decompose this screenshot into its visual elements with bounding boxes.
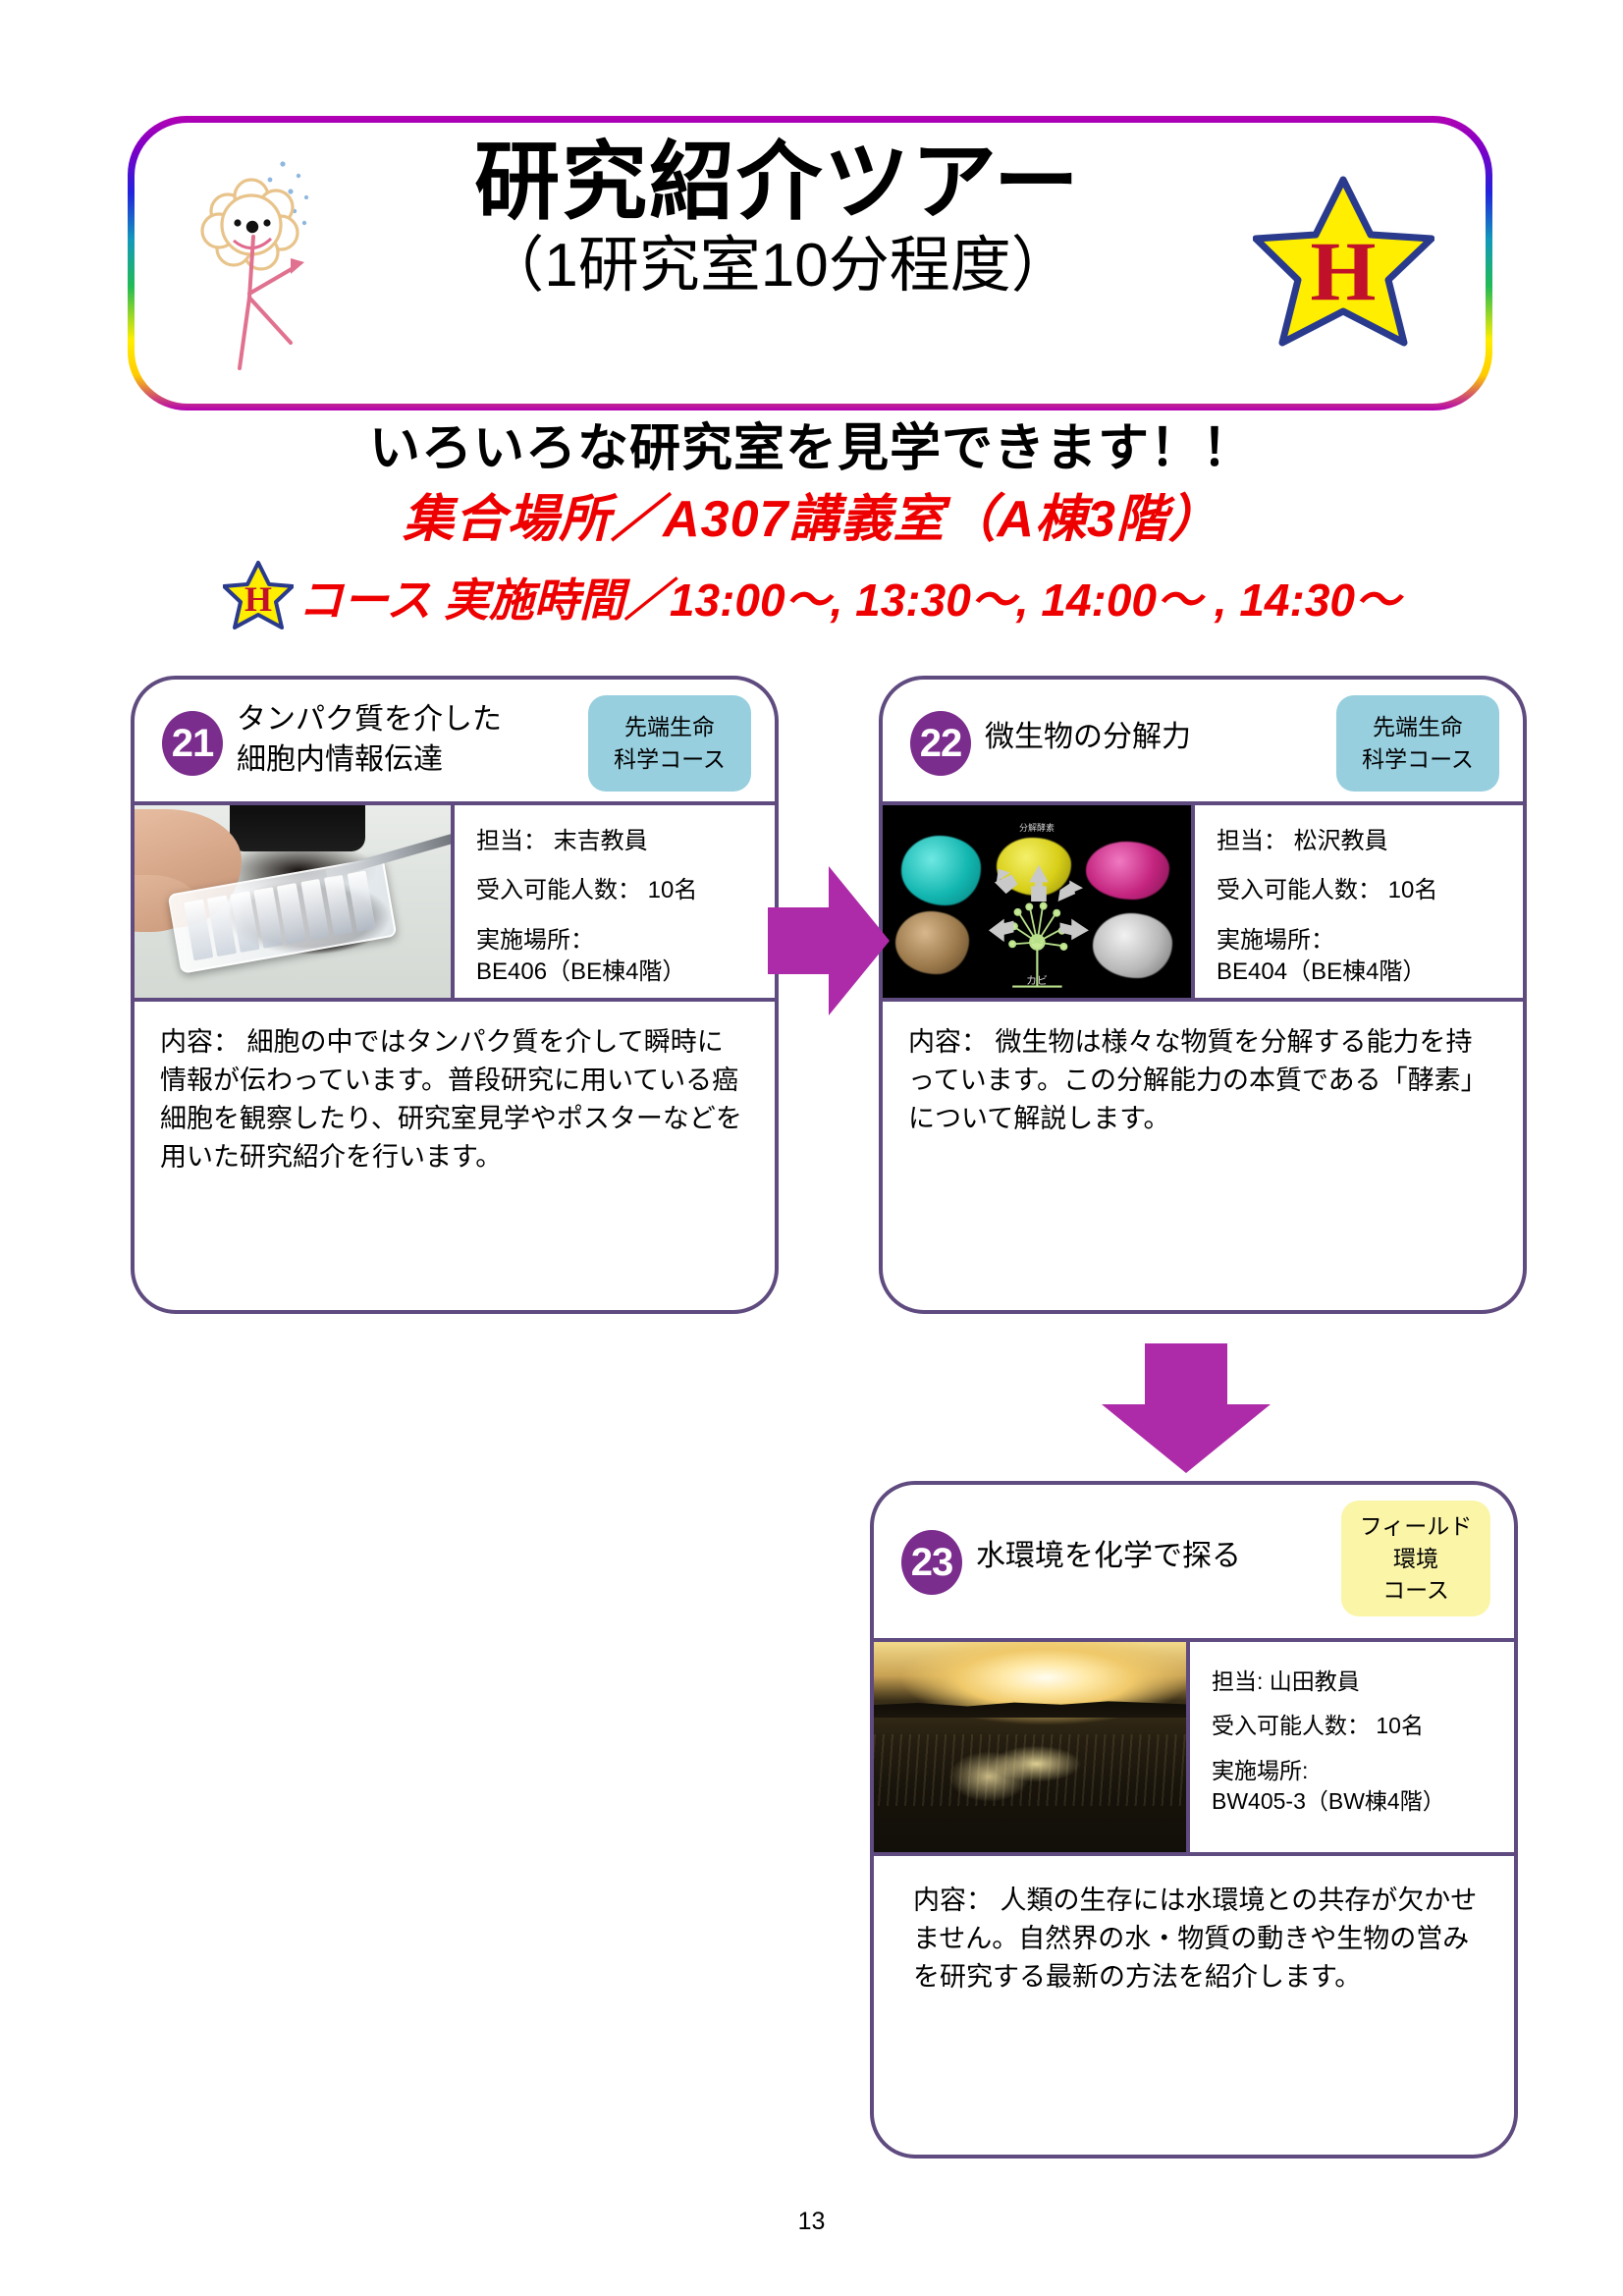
location-row: 実施場所: BW405-3（BW棟4階） [1212,1756,1504,1817]
header-banner-inner: 研究紹介ツアー （1研究室10分程度） H [135,123,1486,404]
teacher-row: 担当： 末吉教員 [476,827,765,856]
card-header: 23 水環境を化学で探る フィールド 環境 コース [874,1485,1514,1642]
card-title: タンパク質を介した 細胞内情報伝達 [237,699,561,781]
lab-card-22[interactable]: 22 微生物の分解力 先端生命 科学コース 分解酵素 [879,676,1527,1314]
teacher-row: 担当： 松沢教員 [1217,827,1513,856]
diagram-label-bottom: カビ [883,972,1191,988]
card-info: 担当: 山田教員 受入可能人数： 10名 実施場所: BW405-3（BW棟4階… [1190,1642,1514,1852]
card-description: 内容： 細胞の中ではタンパク質を介して瞬時に情報が伝わっています。普段研究に用い… [135,1002,775,1187]
course-badge-line1: フィールド [1360,1510,1473,1543]
card-number-badge: 23 [901,1530,962,1595]
course-badge: 先端生命 科学コース [588,695,751,792]
card-info: 担当： 末吉教員 受入可能人数： 10名 実施場所： BE406（BE棟4階） [455,805,775,998]
svg-text:H: H [244,579,272,619]
card-number-badge: 21 [162,711,223,776]
course-badge-line3: コース [1382,1574,1449,1607]
card-title-line2: 細胞内情報伝達 [237,743,443,776]
teacher-row: 担当: 山田教員 [1212,1667,1504,1696]
flower-mascot-icon [189,150,355,376]
card-middle: 分解酵素 [883,805,1523,1002]
card-description: 内容： 微生物は様々な物質を分解する能力を持っています。この分解能力の本質である… [883,1002,1523,1148]
location-row: 実施場所： BE404（BE棟4階） [1217,925,1513,989]
card-title: 水環境を化学で探る [976,1536,1300,1576]
page-number: 13 [0,2208,1623,2236]
lab-card-21[interactable]: 21 タンパク質を介した 細胞内情報伝達 先端生命 科学コース [131,676,779,1314]
meeting-place-line: 集合場所／A307講義室（A棟3階） [0,487,1623,554]
visit-headline: いろいろな研究室を見学できます！！ [0,417,1623,481]
capacity-row: 受入可能人数： 10名 [1212,1712,1504,1740]
course-badge-line1: 先端生命 [624,711,715,743]
schedule-times: コース 実施時間／13:00～, 13:30～, 14:00～ , 14:30～ [298,565,1400,629]
course-star-icon: H [1253,174,1434,355]
course-badge-line1: 先端生命 [1373,711,1463,743]
card-info: 担当： 松沢教員 受入可能人数： 10名 実施場所： BE404（BE棟4階） [1195,805,1523,998]
card-header: 21 タンパク質を介した 細胞内情報伝達 先端生命 科学コース [135,680,775,805]
header-title-block: 研究紹介ツアー （1研究室10分程度） [385,133,1170,302]
location-label: 実施場所： [1217,927,1334,954]
header-banner: 研究紹介ツアー （1研究室10分程度） H [128,116,1492,410]
card-header: 22 微生物の分解力 先端生命 科学コース [883,680,1523,805]
enzyme-structures-diagram: 分解酵素 [883,805,1195,998]
course-badge-line2: 環境 [1393,1543,1438,1575]
card-description: 内容： 人類の生存には水環境との共存が欠かせません。自然界の水・物質の動きや生物… [874,1856,1514,2006]
card-title-line1: タンパク質を介した [237,703,502,736]
location-value: BE406（BE棟4階） [476,958,685,985]
course-badge-line2: 科学コース [1362,743,1474,776]
capacity-row: 受入可能人数： 10名 [1217,876,1513,905]
location-label: 実施場所: [1212,1758,1308,1783]
time-line-wrap: H コース 実施時間／13:00～, 13:30～, 14:00～ , 14:3… [223,562,1400,632]
card-middle: 担当： 末吉教員 受入可能人数： 10名 実施場所： BE406（BE棟4階） [135,805,775,1002]
card-number-badge: 22 [910,711,971,776]
location-value: BW405-3（BW棟4階） [1212,1788,1445,1814]
course-badge: 先端生命 科学コース [1336,695,1499,792]
lab-card-23[interactable]: 23 水環境を化学で探る フィールド 環境 コース 担当: 山田教員 受入可能人… [870,1481,1518,2159]
svg-text:H: H [1311,224,1377,318]
arrow-right-icon [768,866,890,1015]
page-subtitle: （1研究室10分程度） [385,230,1170,302]
course-badge: フィールド 環境 コース [1341,1501,1490,1616]
capacity-row: 受入可能人数： 10名 [476,876,765,905]
location-label: 実施場所： [476,927,594,954]
page-title: 研究紹介ツアー [385,133,1170,234]
lake-sunset-photo [874,1642,1190,1852]
card-middle: 担当: 山田教員 受入可能人数： 10名 実施場所: BW405-3（BW棟4階… [874,1642,1514,1856]
microscope-chamber-slide-photo [135,805,455,998]
location-value: BE404（BE棟4階） [1217,958,1426,985]
arrow-down-icon [1102,1343,1271,1473]
info-lines: いろいろな研究室を見学できます！！ 集合場所／A307講義室（A棟3階） H コ… [0,417,1623,632]
card-title: 微生物の分解力 [985,717,1309,757]
course-star-small-icon: H [223,560,294,630]
location-row: 実施場所： BE406（BE棟4階） [476,925,765,989]
course-badge-line2: 科学コース [614,743,726,776]
